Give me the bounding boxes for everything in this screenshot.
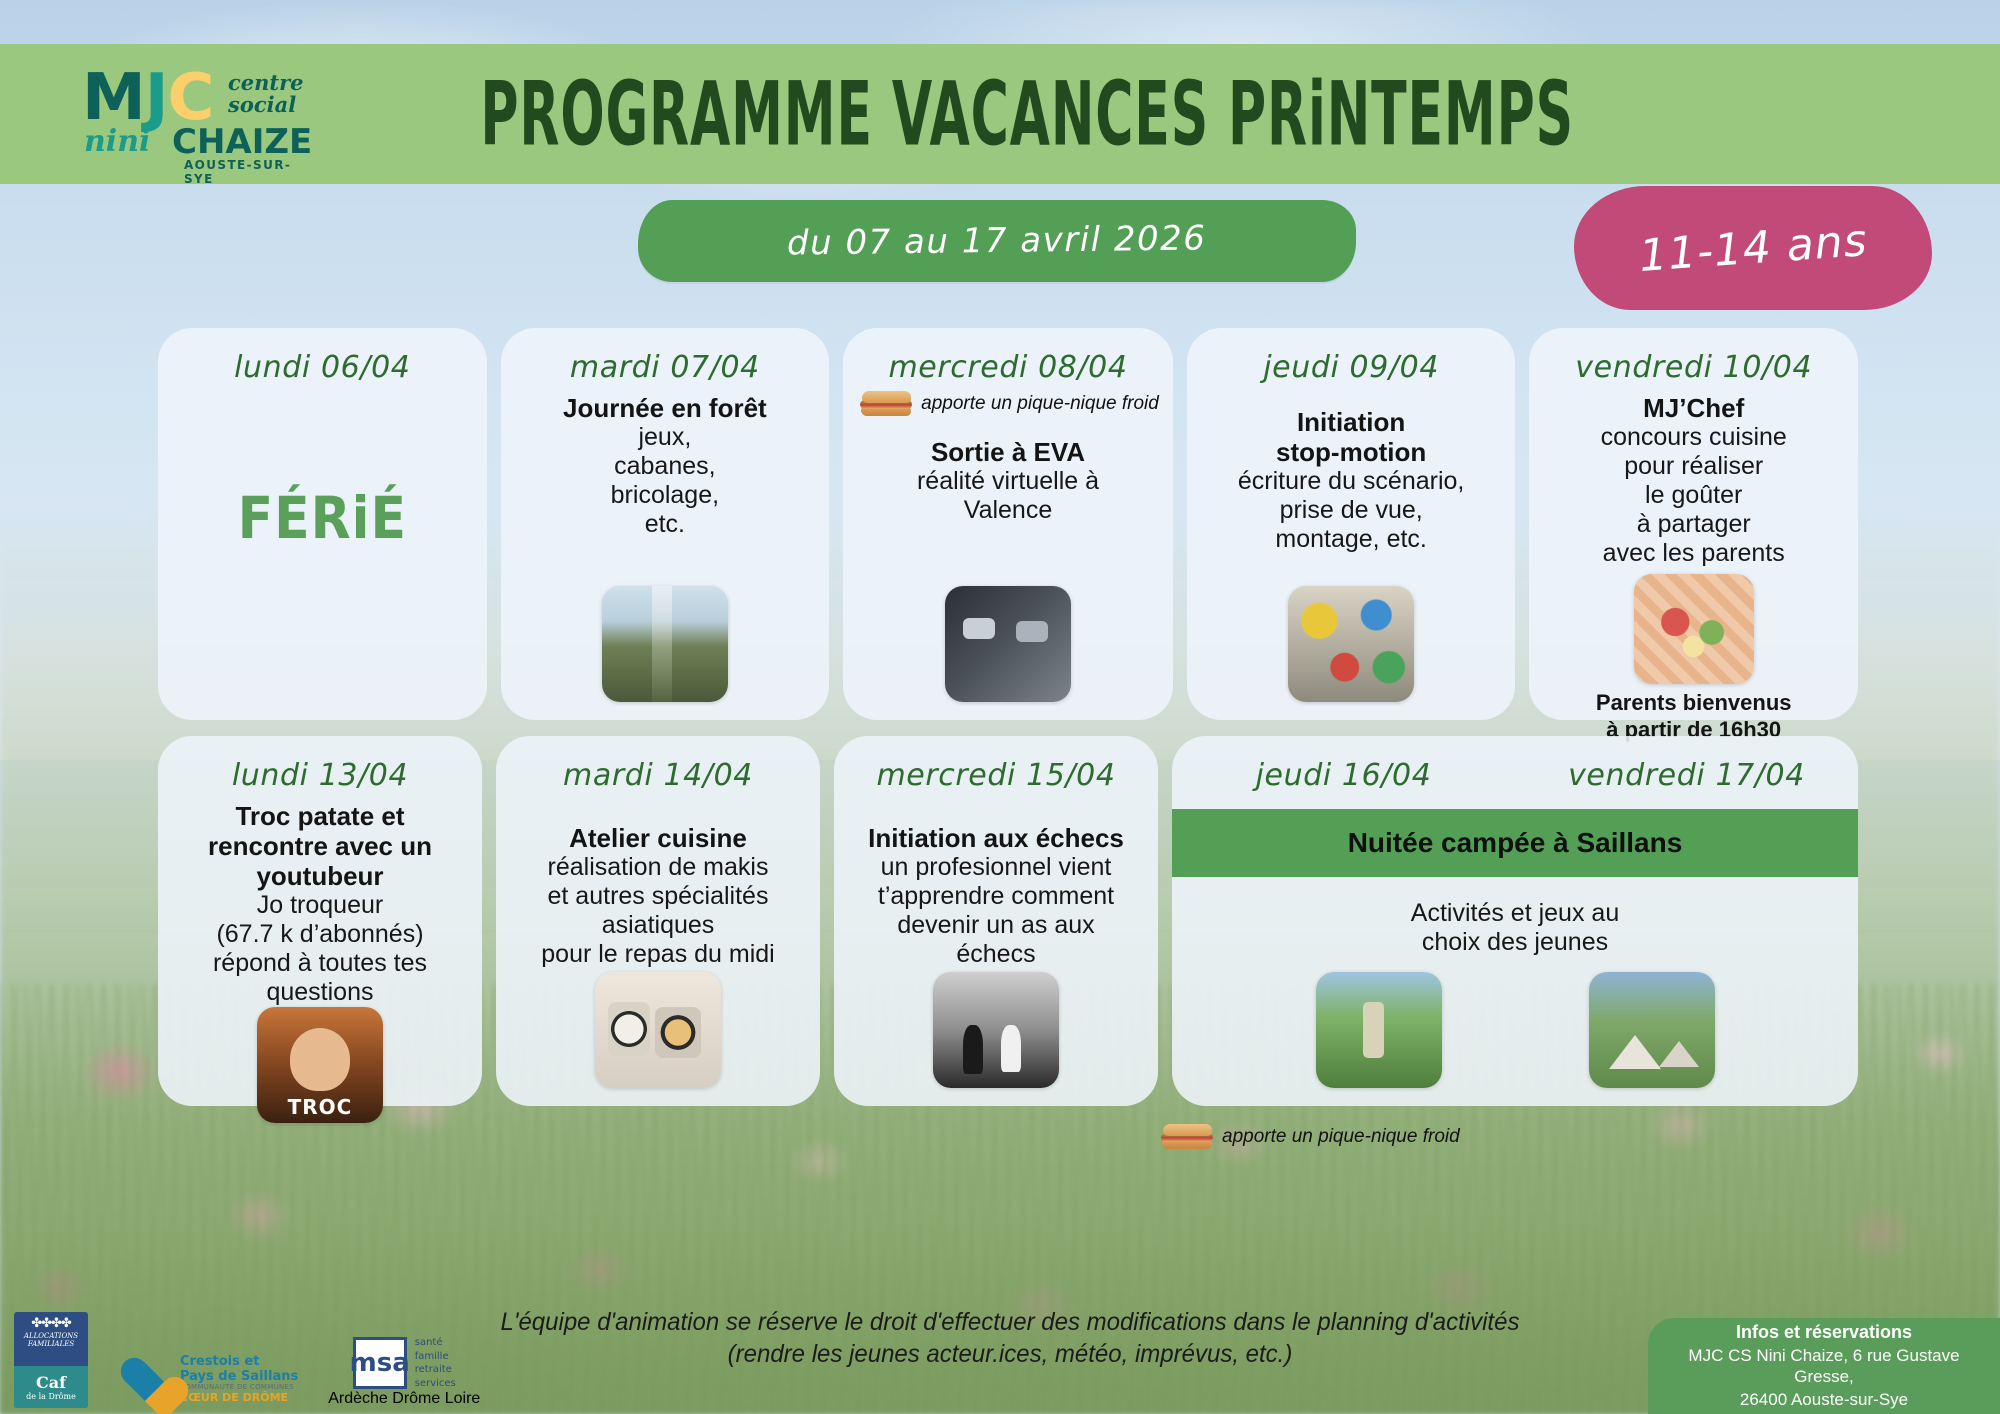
card-title: Initiation aux échecs xyxy=(868,823,1124,853)
caf-logo: ✤✤✤✤ ALLOCATIONS FAMILIALES Caf de la Dr… xyxy=(14,1312,88,1408)
sandwich-icon xyxy=(859,391,913,417)
partner-logos: ✤✤✤✤ ALLOCATIONS FAMILIALES Caf de la Dr… xyxy=(14,1312,480,1408)
day-card-lundi-06-04[interactable]: lundi 06/04 FÉRiÉ xyxy=(158,328,487,720)
card-description: jeux, cabanes, bricolage, etc. xyxy=(611,423,719,539)
buffet-photo-thumbnail xyxy=(1634,574,1754,684)
card-date: mercredi 08/04 xyxy=(888,350,1127,385)
card-date: lundi 13/04 xyxy=(232,758,408,793)
disclaimer-line-1: L'équipe d'animation se réserve le droit… xyxy=(444,1306,1577,1338)
msa-services-text: santé famille retraite services xyxy=(415,1336,456,1390)
card-date: lundi 06/04 xyxy=(234,350,410,385)
picnic-note-text: apporte un pique-nique froid xyxy=(1222,1126,1460,1148)
week-2-row: lundi 13/04 Troc patate et rencontre ave… xyxy=(158,736,1858,1106)
card-date-vendredi-17-04: vendredi 17/04 xyxy=(1515,758,1858,793)
card-description: un profesionnel vient t’apprendre commen… xyxy=(878,853,1114,969)
card-date: mardi 14/04 xyxy=(563,758,753,793)
troc-photo-label: TROC xyxy=(257,1095,383,1119)
week-1-row: lundi 06/04 FÉRiÉ mardi 07/04 Journée en… xyxy=(158,328,1858,720)
camping-banner: Nuitée campée à Saillans xyxy=(1172,809,1858,877)
poster-canvas: MJC centre social nini CHAIZE AOUSTE-SUR… xyxy=(0,0,2000,1414)
day-card-lundi-13-04[interactable]: lundi 13/04 Troc patate et rencontre ave… xyxy=(158,736,482,1106)
date-range-text: du 07 au 17 avril 2026 xyxy=(787,218,1207,263)
card-title: Atelier cuisine xyxy=(569,823,747,853)
logo-mjc-letters: MJC xyxy=(82,66,213,130)
caf-brand-text: Caf xyxy=(36,1373,66,1392)
card-title: Initiation stop-motion xyxy=(1276,407,1426,467)
day-card-mardi-14-04[interactable]: mardi 14/04 Atelier cuisine réalisation … xyxy=(496,736,820,1106)
card-date: vendredi 10/04 xyxy=(1575,350,1812,385)
day-card-mercredi-15-04[interactable]: mercredi 15/04 Initiation aux échecs un … xyxy=(834,736,1158,1106)
disclaimer-line-2: (rendre les jeunes acteur.ices, météo, i… xyxy=(444,1338,1577,1370)
stop-motion-photo-thumbnail xyxy=(1288,586,1414,702)
card-description: Jo troqueur (67.7 k d’abonnés) répond à … xyxy=(213,891,427,1007)
msa-logo: msa santé famille retraite services Ardè… xyxy=(328,1336,480,1408)
card-date: mardi 07/04 xyxy=(570,350,760,385)
heart-icon xyxy=(118,1352,174,1408)
logo-nini-text: nini xyxy=(84,124,150,159)
camping-banner-text: Nuitée campée à Saillans xyxy=(1348,827,1683,859)
camping-description: Activités et jeux au choix des jeunes xyxy=(1172,899,1858,957)
maki-photo-thumbnail xyxy=(595,972,721,1088)
logo-centre-social: centre social xyxy=(228,72,304,116)
contact-address-line-2: 26400 Aouste-sur-Sye xyxy=(1740,1389,1908,1410)
caf-allocations-text: ALLOCATIONS FAMILIALES xyxy=(24,1332,78,1348)
logo-commune-text: AOUSTE-SUR-SYE xyxy=(184,158,316,186)
logo-social-text: social xyxy=(228,94,304,116)
contact-box[interactable]: Infos et réservations MJC CS Nini Chaize… xyxy=(1648,1318,2000,1414)
logo-centre-text: centre xyxy=(228,72,304,94)
card-description: réalisation de makis et autres spécialit… xyxy=(541,853,774,969)
age-range-badge: 11-14 ans xyxy=(1574,186,1932,310)
disclaimer: L'équipe d'animation se réserve le droit… xyxy=(444,1306,1577,1370)
card-date: jeudi 09/04 xyxy=(1263,350,1439,385)
crestois-pays-de-saillans-logo: Crestois et Pays de Saillans COMMUNAUTÉ … xyxy=(118,1352,298,1408)
camping-overnight-card[interactable]: jeudi 16/04 vendredi 17/04 Nuitée campée… xyxy=(1172,736,1858,1106)
msa-region-text: Ardèche Drôme Loire xyxy=(328,1390,480,1408)
camping-tents-photo-thumbnail xyxy=(1589,972,1715,1088)
forest-photo-thumbnail xyxy=(602,586,728,702)
caf-brand-bar: Caf de la Drôme xyxy=(14,1366,88,1408)
chess-photo-thumbnail xyxy=(933,972,1059,1088)
program-grid: lundi 06/04 FÉRiÉ mardi 07/04 Journée en… xyxy=(158,328,1858,1106)
caf-department-text: de la Drôme xyxy=(26,1392,76,1401)
troc-youtuber-photo-thumbnail: TROC xyxy=(257,1007,383,1123)
virtual-reality-photo-thumbnail xyxy=(945,586,1071,702)
card-title: Sortie à EVA xyxy=(931,437,1085,467)
sandwich-icon xyxy=(1160,1124,1214,1150)
card-description: concours cuisine pour réaliser le goûter… xyxy=(1601,423,1787,568)
card-date-jeudi-16-04: jeudi 16/04 xyxy=(1172,758,1515,793)
camping-thumbnails xyxy=(1172,972,1858,1088)
crestois-line-4: CŒUR DE DRÔME xyxy=(180,1392,298,1404)
day-card-vendredi-10-04[interactable]: vendredi 10/04 MJ’Chef concours cuisine … xyxy=(1529,328,1858,720)
day-card-mardi-07-04[interactable]: mardi 07/04 Journée en forêt jeux, caban… xyxy=(501,328,830,720)
card-title: Troc patate et rencontre avec un youtube… xyxy=(208,801,432,891)
card-title: MJ’Chef xyxy=(1643,393,1744,423)
msa-mark-icon: msa xyxy=(353,1337,407,1389)
page-title: PROGRAMME VACANCES PRiNTEMPS xyxy=(480,62,1429,166)
camping-dates: jeudi 16/04 vendredi 17/04 xyxy=(1172,758,1858,793)
card-title: Journée en forêt xyxy=(563,393,767,423)
date-range-badge: du 07 au 17 avril 2026 xyxy=(638,200,1356,282)
logo-chaize-text: CHAIZE xyxy=(172,122,312,162)
contact-title: Infos et réservations xyxy=(1736,1322,1912,1343)
day-card-jeudi-09-04[interactable]: jeudi 09/04 Initiation stop-motion écrit… xyxy=(1187,328,1516,720)
card-description: écriture du scénario, prise de vue, mont… xyxy=(1238,467,1465,554)
caf-stars-icon: ✤✤✤✤ xyxy=(22,1318,80,1328)
mjc-logo: MJC centre social nini CHAIZE AOUSTE-SUR… xyxy=(76,62,316,174)
card-date: mercredi 15/04 xyxy=(876,758,1115,793)
outdoor-game-photo-thumbnail xyxy=(1316,972,1442,1088)
card-description: réalité virtuelle à Valence xyxy=(917,467,1099,525)
picnic-note-text: apporte un pique-nique froid xyxy=(921,393,1159,415)
day-card-mercredi-08-04[interactable]: mercredi 08/04 apporte un pique-nique fr… xyxy=(843,328,1173,720)
crestois-line-1: Crestois et xyxy=(180,1355,298,1370)
contact-address-line-1: MJC CS Nini Chaize, 6 rue Gustave Gresse… xyxy=(1658,1345,1990,1388)
picnic-note: apporte un pique-nique froid xyxy=(859,391,1159,417)
ferie-label: FÉRiÉ xyxy=(238,485,407,552)
age-range-text: 11-14 ans xyxy=(1637,215,1869,282)
picnic-note: apporte un pique-nique froid xyxy=(1160,1124,1460,1150)
